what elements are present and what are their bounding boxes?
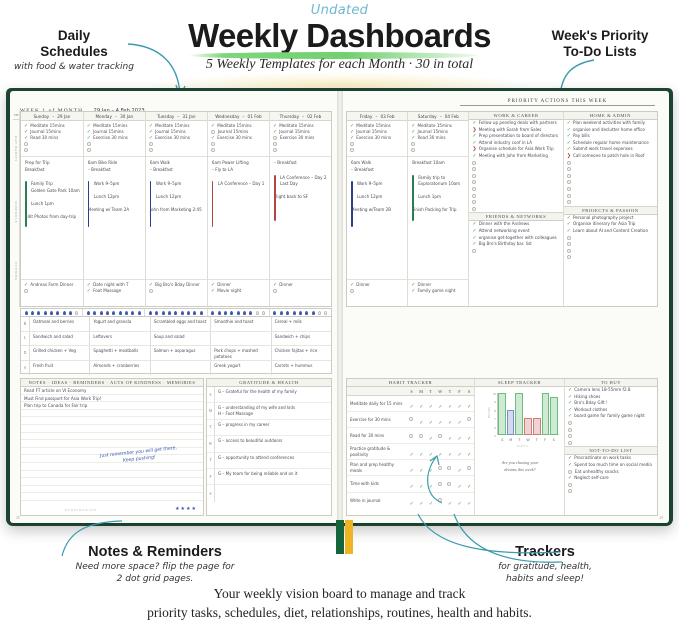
empty-checkbox[interactable] — [350, 289, 354, 293]
water-drop-icon[interactable] — [273, 311, 276, 315]
schedule-block-entry[interactable]: Family Trip — [31, 181, 80, 188]
note-text[interactable]: Plan trip to Canada for Fair trip — [24, 403, 87, 408]
water-drop-icon[interactable] — [230, 311, 233, 315]
note-line[interactable] — [21, 478, 203, 486]
evening-item[interactable] — [350, 288, 404, 294]
empty-checkbox[interactable] — [467, 466, 471, 470]
water-drop-icon[interactable] — [149, 311, 152, 315]
schedule-entry[interactable]: Edit Photos from day-trip — [25, 214, 80, 221]
day-schedule[interactable]: Prep for TripBreakfast Family TripGolden… — [21, 157, 83, 267]
day-date[interactable]: 29 Jan — [57, 114, 70, 119]
schedule-block-entry[interactable] — [156, 188, 204, 195]
note-line[interactable] — [21, 493, 203, 501]
schedule-block-entry[interactable] — [31, 194, 80, 201]
day-evening[interactable]: ✓ Big Bro's Bday Dinner — [146, 279, 207, 306]
habit-mark-cell[interactable]: ✓ — [407, 492, 417, 510]
water-drop-icon[interactable] — [312, 311, 315, 315]
water-tracker-row[interactable] — [20, 308, 332, 316]
habit-item[interactable] — [149, 147, 204, 153]
habit-mark-cell[interactable]: ✓ — [464, 475, 474, 493]
task-item-empty[interactable] — [472, 248, 559, 255]
schedule-entry[interactable]: Prep for Trip — [25, 160, 80, 167]
task-item-empty[interactable] — [472, 186, 559, 193]
water-cell[interactable] — [208, 309, 270, 316]
water-drop-icon[interactable] — [237, 311, 240, 315]
list-item-empty[interactable] — [568, 440, 654, 447]
meal-cell[interactable]: Yogurt and granola — [90, 317, 150, 331]
day-habits[interactable]: ✓ Meditate 15mins✓ Journal 15mins✓ Read … — [21, 121, 83, 157]
gratitude-row[interactable]: F G – My team for being reliable and on … — [207, 469, 331, 485]
task-item[interactable]: ✓ organise get-together with colleagues — [472, 235, 559, 242]
meal-cell[interactable]: Carrots + hummus — [272, 361, 331, 376]
note-line[interactable] — [21, 471, 203, 479]
empty-checkbox[interactable] — [568, 421, 572, 425]
habit-mark-cell[interactable]: ✓ — [455, 492, 465, 510]
schedule-block-entry[interactable] — [357, 188, 404, 195]
empty-checkbox[interactable] — [472, 180, 476, 184]
evening-item[interactable]: ✓ Big Bro's Bday Dinner — [149, 282, 204, 288]
habit-item[interactable] — [350, 147, 404, 153]
task-item[interactable]: ✓ Personal photography project — [567, 215, 654, 222]
task-item[interactable]: ✓ organise and declutter home office — [567, 127, 654, 134]
task-item[interactable]: ✓ Submit work travel expenses — [567, 146, 654, 153]
schedule-block-entry[interactable]: Lunch 1pm — [418, 194, 465, 201]
notes-section[interactable]: NOTES · IDEAS · REMINDERS · ACTS OF KIND… — [20, 378, 204, 516]
list-item[interactable]: ✓ Bro's Bday Gift ! — [568, 400, 654, 407]
empty-checkbox[interactable] — [568, 428, 572, 432]
schedule-entry[interactable]: 6am Bike Ride — [88, 160, 142, 167]
habit-mark-cell[interactable]: ✓ — [464, 492, 474, 510]
meal-cell[interactable]: Oatmeal and berries — [30, 317, 90, 331]
meal-cell[interactable]: Scrambled eggs and toast — [151, 317, 211, 331]
water-drop-icon[interactable] — [56, 311, 59, 315]
task-item-empty[interactable] — [567, 173, 654, 180]
note-line[interactable] — [21, 417, 203, 425]
day-habits[interactable]: ✓ Meditate 15mins✓ Journal 15mins✓ Exerc… — [146, 121, 207, 157]
empty-checkbox[interactable] — [472, 249, 476, 253]
meal-cell[interactable]: Spaghetti + meatballs — [90, 346, 150, 360]
list-item[interactable]: Eat unhealthy snacks — [568, 469, 654, 476]
empty-checkbox[interactable] — [567, 255, 571, 259]
schedule-block-entry[interactable]: Last Day — [280, 181, 328, 188]
note-line[interactable] — [21, 433, 203, 441]
gratitude-health-section[interactable]: GRATITUDE & HEALTH S G – Grateful for th… — [206, 378, 332, 516]
list-item[interactable]: ✓ Procrastinate on work tasks — [568, 455, 654, 462]
task-item[interactable]: ❯ Organise schedule for Asia Work Trip — [472, 146, 559, 153]
evening-item[interactable]: ✓ Movie night — [211, 288, 266, 294]
evening-item[interactable] — [24, 288, 80, 294]
empty-checkbox[interactable] — [409, 434, 413, 438]
task-item[interactable]: ✓ Meeting with John from Marketing — [472, 153, 559, 160]
task-item-empty[interactable] — [472, 160, 559, 167]
schedule-entry[interactable]: – Breakfast — [351, 167, 404, 174]
day-evening[interactable]: ✓ Dinner✓ Family game night — [408, 279, 468, 306]
schedule-entry[interactable]: Breakfast — [25, 167, 80, 174]
water-drop-icon[interactable] — [324, 311, 327, 315]
schedule-block-entry[interactable]: Lunch 12pm — [357, 194, 404, 201]
empty-checkbox[interactable] — [467, 417, 471, 421]
empty-checkbox[interactable] — [409, 417, 413, 421]
schedule-entry[interactable]: 6am Walk — [150, 160, 204, 167]
gratitude-row[interactable]: M G – understanding of my wife and kidsH… — [207, 403, 331, 419]
gratitude-text[interactable]: G – Grateful for the health of my family — [215, 387, 331, 402]
gratitude-row[interactable]: S G – Grateful for the health of my fami… — [207, 387, 331, 403]
empty-checkbox[interactable] — [472, 187, 476, 191]
water-drop-icon[interactable] — [119, 311, 122, 315]
water-drop-icon[interactable] — [218, 311, 221, 315]
list-item[interactable]: ✓ Hiking shoes — [568, 394, 654, 401]
meal-cell[interactable]: Greek yogurt — [211, 361, 271, 376]
water-drop-icon[interactable] — [299, 311, 302, 315]
evening-item[interactable]: ✓ Andreas Farm Dinner — [24, 282, 80, 288]
schedule-block-entry[interactable]: Work 9–5pm — [357, 181, 404, 188]
schedule-entry[interactable]: 6am Power Lifting — [212, 160, 266, 167]
empty-checkbox[interactable] — [411, 142, 415, 146]
meal-cell[interactable]: Almonds + cranberries — [90, 361, 150, 376]
list-item-empty[interactable] — [568, 420, 654, 427]
meal-cell[interactable]: Grilled chicken + Veg — [30, 346, 90, 360]
water-drop-icon[interactable] — [25, 311, 28, 315]
water-drop-icon[interactable] — [286, 311, 289, 315]
schedule-block-entry[interactable]: Family trip to — [418, 175, 465, 182]
water-drop-icon[interactable] — [193, 311, 196, 315]
empty-checkbox[interactable] — [350, 148, 354, 152]
gratitude-text[interactable]: G – access to beautiful outdoors — [215, 436, 331, 451]
habit-item[interactable] — [87, 147, 142, 153]
day-schedule[interactable]: Breakfast 10am Family trip toExploratori… — [408, 157, 468, 267]
empty-checkbox[interactable] — [568, 441, 572, 445]
empty-checkbox[interactable] — [567, 167, 571, 171]
habit-mark-cell[interactable]: ✓ — [445, 492, 455, 510]
schedule-entry[interactable]: Breakfast 10am — [412, 160, 465, 167]
task-list[interactable]: ✓ Follow up pending deals with partners❯… — [469, 120, 562, 212]
meal-cell[interactable]: Salmon + asparagus — [151, 346, 211, 360]
water-drop-icon[interactable] — [75, 311, 78, 315]
water-drop-icon[interactable] — [31, 311, 34, 315]
list-item-empty[interactable] — [568, 427, 654, 434]
day-schedule[interactable]: 6am Walk– Breakfast Work 9–5pm Lunch 12p… — [146, 157, 207, 267]
task-item-empty[interactable] — [472, 179, 559, 186]
meal-cell[interactable] — [151, 361, 211, 376]
day-schedule[interactable]: 6am Walk– Breakfast Work 9–5pm Lunch 12p… — [347, 157, 407, 267]
day-date[interactable]: 04 Feb — [445, 114, 459, 119]
meal-cell[interactable]: Cereal + milk — [272, 317, 331, 331]
task-item[interactable]: ✓ Schedule regular home maintenance — [567, 140, 654, 147]
empty-checkbox[interactable] — [211, 130, 215, 134]
gratitude-text[interactable] — [215, 485, 331, 501]
list-item[interactable]: ✓ Camera lens 18-55mm f2.8 — [568, 387, 654, 394]
empty-checkbox[interactable] — [149, 289, 153, 293]
water-drop-icon[interactable] — [181, 311, 184, 315]
empty-checkbox[interactable] — [568, 434, 572, 438]
water-drop-icon[interactable] — [63, 311, 66, 315]
schedule-entry[interactable]: – Breakfast — [150, 167, 204, 174]
day-habits[interactable]: ✓ Meditate 15mins✓ Journal 15mins✓ Exerc… — [84, 121, 145, 157]
empty-checkbox[interactable] — [568, 489, 572, 493]
empty-checkbox[interactable] — [211, 148, 215, 152]
water-drop-icon[interactable] — [69, 311, 72, 315]
task-item[interactable]: ❯ Call someone to patch hole in Roof — [567, 153, 654, 160]
empty-checkbox[interactable] — [472, 194, 476, 198]
day-habits[interactable]: ✓ Meditate 15mins✓ Journal 15mins✓ Exerc… — [347, 121, 407, 157]
empty-checkbox[interactable] — [567, 174, 571, 178]
water-drop-icon[interactable] — [318, 311, 321, 315]
task-item-empty[interactable] — [567, 179, 654, 186]
empty-checkbox[interactable] — [411, 148, 415, 152]
task-item[interactable]: ✓ Prep presentation to board of director… — [472, 133, 559, 140]
task-item-empty[interactable] — [567, 254, 654, 261]
evening-item[interactable] — [273, 288, 328, 294]
list-items[interactable]: ✓ Camera lens 18-55mm f2.8✓ Hiking shoes… — [565, 387, 657, 446]
empty-checkbox[interactable] — [472, 200, 476, 204]
day-evening[interactable]: ✓ Dinner✓ Movie night — [208, 279, 269, 306]
water-drop-icon[interactable] — [211, 311, 214, 315]
empty-checkbox[interactable] — [419, 434, 423, 438]
task-item[interactable]: ❯ Meeting with Sarah from Sales — [472, 127, 559, 134]
water-drop-icon[interactable] — [155, 311, 158, 315]
empty-checkbox[interactable] — [567, 161, 571, 165]
empty-checkbox[interactable] — [568, 483, 572, 487]
task-item[interactable]: ✓ Organise itinerary for Asia Trip — [567, 221, 654, 228]
empty-checkbox[interactable] — [567, 194, 571, 198]
schedule-block-entry[interactable] — [418, 188, 465, 195]
evening-item[interactable]: ✓ Family game night — [411, 288, 465, 294]
note-text[interactable]: Must Find passport for Asia Work Trip! — [24, 396, 101, 401]
water-drop-icon[interactable] — [138, 311, 141, 315]
meal-cell[interactable] — [211, 332, 271, 346]
day-date[interactable]: 31 Jan — [182, 114, 195, 119]
empty-checkbox[interactable] — [273, 142, 277, 146]
water-drop-icon[interactable] — [93, 311, 96, 315]
habit-item[interactable] — [24, 147, 80, 153]
water-drop-icon[interactable] — [200, 311, 203, 315]
habit-tracker-row[interactable]: Write in journal ✓✓✓✓✓✓ — [347, 493, 474, 509]
gratitude-text[interactable]: G – progress in my career — [215, 420, 331, 435]
habit-item[interactable] — [273, 147, 328, 153]
buy-and-not-todo-lists[interactable]: TO BUY ✓ Camera lens 18-55mm f2.8✓ Hikin… — [565, 379, 657, 515]
task-item-empty[interactable] — [567, 186, 654, 193]
water-drop-icon[interactable] — [112, 311, 115, 315]
task-item-empty[interactable] — [472, 193, 559, 200]
schedule-block-entry[interactable]: Lunch 12pm — [94, 194, 142, 201]
empty-checkbox[interactable] — [273, 136, 277, 140]
empty-checkbox[interactable] — [568, 470, 572, 474]
schedule-entry[interactable]: – Breakfast — [274, 160, 328, 167]
task-item[interactable]: ✓ Follow up pending deals with partners — [472, 120, 559, 127]
day-schedule[interactable]: – Breakfast LA Conference – Day 2Last Da… — [270, 157, 331, 267]
task-item-empty[interactable] — [567, 248, 654, 255]
schedule-block-entry[interactable]: Work 9–5pm — [94, 181, 142, 188]
day-date[interactable]: 01 Feb — [248, 114, 262, 119]
schedule-entry[interactable]: Flight back to SF — [274, 194, 328, 201]
schedule-block-entry[interactable] — [94, 188, 142, 195]
empty-checkbox[interactable] — [273, 289, 277, 293]
habit-item[interactable] — [211, 147, 266, 153]
schedule-entry[interactable]: John from Marketing 2:45 — [150, 207, 204, 214]
task-list[interactable]: ✓ Dinner with the Andrews✓ Attend networ… — [469, 221, 562, 254]
empty-checkbox[interactable] — [273, 148, 277, 152]
schedule-entry[interactable]: – Fly to LA — [212, 167, 266, 174]
empty-checkbox[interactable] — [472, 174, 476, 178]
empty-checkbox[interactable] — [211, 142, 215, 146]
water-drop-icon[interactable] — [262, 311, 265, 315]
task-item-empty[interactable] — [567, 235, 654, 242]
task-item-empty[interactable] — [567, 241, 654, 248]
empty-checkbox[interactable] — [447, 466, 451, 470]
schedule-entry[interactable]: Meeting w/Team 2B — [351, 207, 404, 214]
empty-checkbox[interactable] — [149, 148, 153, 152]
schedule-block-entry[interactable]: Exploratorium 10am — [418, 181, 465, 188]
water-drop-icon[interactable] — [174, 311, 177, 315]
empty-checkbox[interactable] — [472, 207, 476, 211]
habit-mark-cell[interactable]: ✓ — [407, 475, 417, 493]
water-drop-icon[interactable] — [37, 311, 40, 315]
water-drop-icon[interactable] — [44, 311, 47, 315]
list-item-empty[interactable] — [568, 433, 654, 440]
note-line[interactable] — [21, 425, 203, 433]
evening-item[interactable]: ✓ Foot Massage — [87, 288, 142, 294]
meal-cell[interactable]: Sandwich + chips — [272, 332, 331, 346]
meal-cell[interactable]: Soup and salad — [151, 332, 211, 346]
gratitude-text[interactable]: G – understanding of my wife and kidsH –… — [215, 403, 331, 418]
water-drop-icon[interactable] — [50, 311, 53, 315]
empty-checkbox[interactable] — [87, 142, 91, 146]
day-date[interactable]: 02 Feb — [307, 114, 321, 119]
list-item-empty[interactable] — [568, 482, 654, 489]
note-text[interactable]: Read FT article on VI Economy — [24, 388, 86, 393]
day-date[interactable]: 30 Jan — [120, 114, 133, 119]
empty-checkbox[interactable] — [24, 148, 28, 152]
task-item[interactable]: ✓ Attend industry conf in LA — [472, 140, 559, 147]
habit-item[interactable] — [411, 147, 465, 153]
water-drop-icon[interactable] — [106, 311, 109, 315]
day-habits[interactable]: ✓ Meditate 15mins✓ Journal 15mins✓ Read … — [408, 121, 468, 157]
list-item[interactable]: ✓ board game for family game night — [568, 413, 654, 420]
schedule-block-entry[interactable]: Lunch 1pm — [31, 201, 80, 208]
empty-checkbox[interactable] — [149, 142, 153, 146]
task-item-empty[interactable] — [472, 199, 559, 206]
water-drop-icon[interactable] — [305, 311, 308, 315]
schedule-entry[interactable]: Meeting w/ Team 2A — [88, 207, 142, 214]
water-drop-icon[interactable] — [125, 311, 128, 315]
schedule-entry[interactable]: Finish Packing for Trip — [412, 207, 465, 214]
day-habits[interactable]: ✓ Meditate 15mins Journal 15mins✓ Exerci… — [208, 121, 269, 157]
meal-cell[interactable]: Leftovers — [90, 332, 150, 346]
empty-checkbox[interactable] — [87, 148, 91, 152]
day-evening[interactable]: ✓ Andreas Farm Dinner — [21, 279, 83, 306]
meal-cell[interactable]: Smoothie and toast — [211, 317, 271, 331]
schedule-block-entry[interactable]: LA Conference – Day 2 — [280, 175, 328, 182]
list-item-empty[interactable] — [568, 488, 654, 495]
empty-checkbox[interactable] — [350, 142, 354, 146]
empty-checkbox[interactable] — [567, 236, 571, 240]
gratitude-row[interactable]: T G – opportunity to attend conferences — [207, 453, 331, 469]
schedule-entry[interactable]: 6am Walk — [351, 160, 404, 167]
water-drop-icon[interactable] — [162, 311, 165, 315]
water-drop-icon[interactable] — [87, 311, 90, 315]
note-line[interactable] — [21, 410, 203, 418]
gratitude-row[interactable]: T G – progress in my career — [207, 420, 331, 436]
water-cell[interactable] — [21, 309, 83, 316]
task-item-empty[interactable] — [472, 173, 559, 180]
empty-checkbox[interactable] — [567, 249, 571, 253]
schedule-block-entry[interactable]: Lunch 12pm — [156, 194, 204, 201]
task-item[interactable]: ✓ Learn about AI and Content Creation — [567, 228, 654, 235]
gratitude-text[interactable]: G – opportunity to attend conferences — [215, 453, 331, 468]
task-item[interactable]: ✓ Dinner with the Andrews — [472, 221, 559, 228]
empty-checkbox[interactable] — [472, 161, 476, 165]
water-cell[interactable] — [270, 309, 331, 316]
water-drop-icon[interactable] — [256, 311, 259, 315]
empty-checkbox[interactable] — [24, 142, 28, 146]
task-list[interactable]: ✓ Plan weekend activities with family✓ o… — [564, 120, 657, 206]
task-item[interactable]: ✓ Big Bro's Birthday bar. list — [472, 241, 559, 248]
day-evening[interactable]: ✓ Dinner — [270, 279, 331, 306]
task-item-empty[interactable] — [567, 193, 654, 200]
note-line[interactable] — [21, 486, 203, 494]
habit-tracker-row[interactable]: Time with kids ✓✓✓✓✓ — [347, 476, 474, 492]
day-evening[interactable]: ✓ Date night with T✓ Foot Massage — [84, 279, 145, 306]
list-item[interactable]: ✓ Spend too much time on social media — [568, 462, 654, 469]
schedule-block-entry[interactable]: Golden Gate Park 10am — [31, 188, 80, 195]
day-schedule[interactable]: 6am Power Lifting– Fly to LA LA Conferen… — [208, 157, 269, 267]
list-items[interactable]: ✓ Procrastinate on work tasks✓ Spend too… — [565, 455, 657, 495]
empty-checkbox[interactable] — [567, 187, 571, 191]
task-item-empty[interactable] — [567, 199, 654, 206]
water-drop-icon[interactable] — [293, 311, 296, 315]
task-item-empty[interactable] — [472, 206, 559, 213]
empty-checkbox[interactable] — [567, 200, 571, 204]
day-date[interactable]: 03 Feb — [380, 114, 394, 119]
habit-mark-cell[interactable] — [445, 475, 455, 493]
gratitude-text[interactable]: G – My team for being reliable and on it — [215, 469, 331, 484]
empty-checkbox[interactable] — [447, 482, 451, 486]
water-drop-icon[interactable] — [249, 311, 252, 315]
water-cell[interactable] — [83, 309, 145, 316]
empty-checkbox[interactable] — [567, 180, 571, 184]
schedule-block-entry[interactable]: LA Conference – Day 1 — [218, 181, 266, 188]
gratitude-row[interactable]: S — [207, 485, 331, 501]
day-habits[interactable]: ✓ Meditate 15mins✓ Journal 15mins Exerci… — [270, 121, 331, 157]
task-item[interactable]: ✓ Pay bills — [567, 133, 654, 140]
empty-checkbox[interactable] — [472, 167, 476, 171]
meal-cell[interactable]: Fresh fruit — [30, 361, 90, 376]
meal-cell[interactable]: Chicken fajitas + rice — [272, 346, 331, 360]
schedule-entry[interactable]: – Breakfast — [88, 167, 142, 174]
habit-mark-cell[interactable]: ✓ — [455, 475, 465, 493]
evening-item[interactable] — [149, 288, 204, 294]
task-item-empty[interactable] — [472, 166, 559, 173]
list-item[interactable]: ✓ Workout clothes — [568, 407, 654, 414]
task-item-empty[interactable] — [567, 160, 654, 167]
meal-cell[interactable]: Sandwich and salad — [30, 332, 90, 346]
water-cell[interactable] — [145, 309, 207, 316]
task-item[interactable]: ✓ Plan weekend activities with family — [567, 120, 654, 127]
empty-checkbox[interactable] — [438, 434, 442, 438]
list-item[interactable]: ✓ Neglect self-care — [568, 475, 654, 482]
water-drop-icon[interactable] — [187, 311, 190, 315]
water-drop-icon[interactable] — [168, 311, 171, 315]
task-item[interactable]: ✓ Attend networking event — [472, 228, 559, 235]
water-drop-icon[interactable] — [131, 311, 134, 315]
schedule-block-entry[interactable]: Work 9–5pm — [156, 181, 204, 188]
empty-checkbox[interactable] — [567, 242, 571, 246]
day-evening[interactable]: ✓ Dinner — [347, 279, 407, 306]
meal-cell[interactable]: Pork chops + mashed potatoes — [211, 346, 271, 360]
water-drop-icon[interactable] — [100, 311, 103, 315]
gratitude-row[interactable]: W G – access to beautiful outdoors — [207, 436, 331, 452]
task-item-empty[interactable] — [567, 166, 654, 173]
